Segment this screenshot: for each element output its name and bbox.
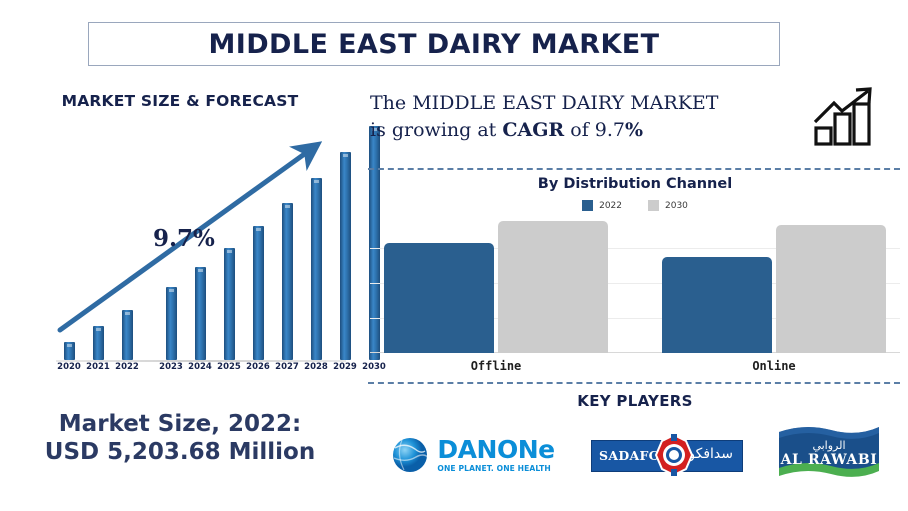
sadafco-arabic-wordmark: سدافكو bbox=[688, 446, 733, 462]
bar-2021 bbox=[93, 326, 104, 360]
page-title-box: MIDDLE EAST DAIRY MARKET bbox=[88, 22, 780, 66]
dist-bar-offline-2030 bbox=[498, 221, 608, 353]
legend-item-2030: 2030 bbox=[648, 200, 688, 211]
key-players-logos: DANONe ONE PLANET. ONE HEALTH SADAFCO سد… bbox=[370, 420, 900, 490]
headline-line-1: The MIDDLE EAST DAIRY MARKET bbox=[370, 92, 718, 114]
bar-2029 bbox=[340, 152, 351, 360]
bar-2023 bbox=[166, 287, 177, 360]
key-players-title: KEY PLAYERS bbox=[362, 392, 908, 410]
market-size-callout: Market Size, 2022: USD 5,203.68 Million bbox=[0, 410, 360, 466]
dist-bar-offline-2022 bbox=[384, 243, 494, 353]
bar-2028 bbox=[311, 178, 322, 360]
legend-swatch-2030 bbox=[648, 200, 659, 211]
sadafco-emblem-icon bbox=[653, 433, 695, 477]
dist-bar-online-2030 bbox=[776, 225, 886, 353]
bar-2025 bbox=[224, 248, 235, 360]
cagr-headline: The MIDDLE EAST DAIRY MARKET is growing … bbox=[370, 90, 800, 144]
dist-bar-online-2022 bbox=[662, 257, 772, 353]
dist-xtick-online: Online bbox=[699, 359, 849, 373]
logo-danone: DANONe ONE PLANET. ONE HEALTH bbox=[387, 427, 557, 483]
growth-bar-chart-arrow-icon bbox=[810, 84, 882, 152]
danone-wordmark: DANONe bbox=[437, 437, 554, 462]
distribution-chart-title: By Distribution Channel bbox=[362, 176, 908, 192]
headline-line-2b: of 9.7 bbox=[564, 119, 625, 141]
bar-2027 bbox=[282, 203, 293, 360]
market-size-forecast-panel: MARKET SIZE & FORECAST 9.7% 2020 2021 20… bbox=[0, 72, 360, 511]
bar-2026 bbox=[253, 226, 264, 360]
left-panel-heading: MARKET SIZE & FORECAST bbox=[0, 92, 360, 110]
headline-line-2a: is growing at bbox=[370, 119, 502, 141]
market-size-forecast-chart: 9.7% 2020 2021 2022 2023 2024 2025 2026 … bbox=[48, 130, 348, 380]
divider-bottom bbox=[368, 382, 900, 384]
right-panel: The MIDDLE EAST DAIRY MARKET is growing … bbox=[362, 72, 908, 511]
danone-tagline: ONE PLANET. ONE HEALTH bbox=[437, 464, 554, 473]
distribution-channel-chart: Offline Online bbox=[370, 220, 900, 375]
page-title: MIDDLE EAST DAIRY MARKET bbox=[209, 29, 660, 60]
divider-top bbox=[368, 168, 900, 170]
distribution-legend: 2022 2030 bbox=[362, 200, 908, 211]
al-rawabi-arabic-wordmark: الروابي bbox=[781, 440, 878, 451]
market-size-value: USD 5,203.68 Million bbox=[0, 438, 360, 466]
dist-xtick-offline: Offline bbox=[421, 359, 571, 373]
legend-swatch-2022 bbox=[582, 200, 593, 211]
bar-2020 bbox=[64, 342, 75, 360]
logo-sadafco: SADAFCO سدافكو bbox=[591, 433, 741, 477]
al-rawabi-wordmark: AL RAWABI bbox=[781, 453, 878, 467]
market-size-label: Market Size, 2022: bbox=[0, 410, 360, 438]
bar-2022 bbox=[122, 310, 133, 360]
headline-percent: % bbox=[625, 119, 643, 141]
legend-label-2022: 2022 bbox=[599, 201, 622, 211]
legend-label-2030: 2030 bbox=[665, 201, 688, 211]
cagr-annotation: 9.7% bbox=[153, 225, 215, 252]
globe-icon bbox=[389, 434, 431, 476]
xtick-2022: 2022 bbox=[110, 362, 144, 372]
logo-al-rawabi: الروابي AL RAWABI bbox=[775, 426, 883, 484]
bar-2024 bbox=[195, 267, 206, 360]
legend-item-2022: 2022 bbox=[582, 200, 622, 211]
headline-cagr: CAGR bbox=[502, 119, 564, 141]
